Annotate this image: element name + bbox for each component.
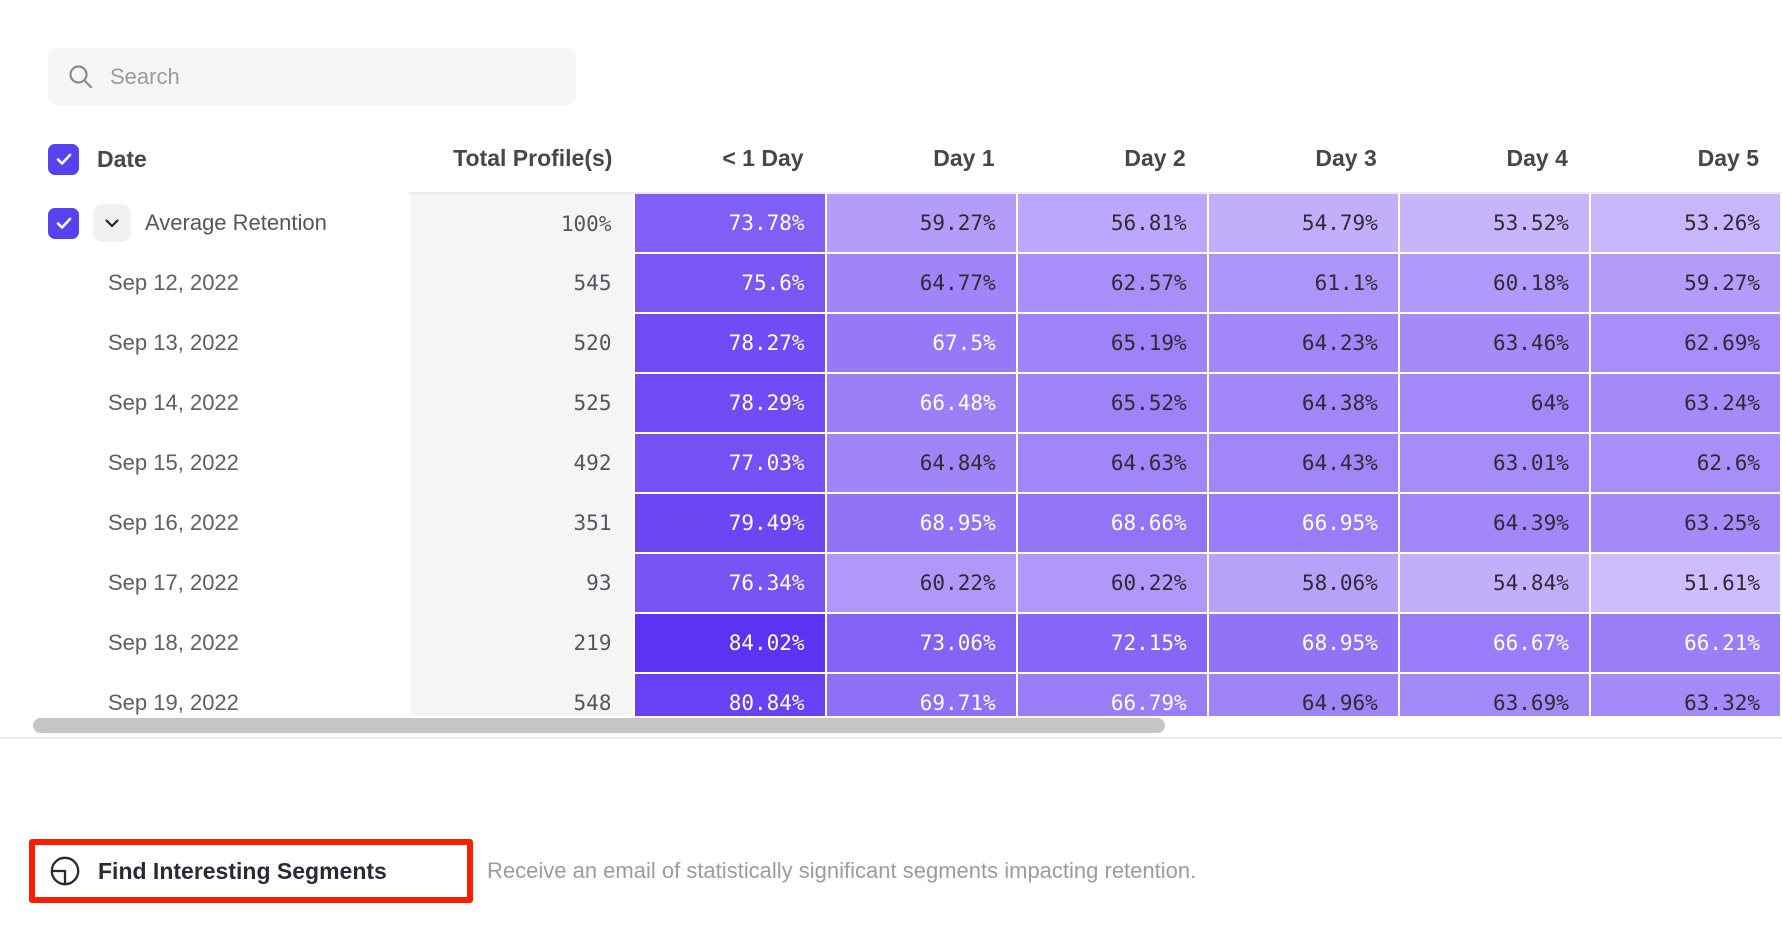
table-row[interactable]: Sep 14, 202252578.29%66.48%65.52%64.38%6… <box>0 373 1781 433</box>
find-interesting-segments-label: Find Interesting Segments <box>98 858 387 885</box>
row-7-cell-d5[interactable]: 63.32% <box>1590 673 1781 720</box>
row-0-cell-d0[interactable]: 75.6% <box>634 253 825 313</box>
row-4-cell-d2[interactable]: 68.66% <box>1017 493 1208 553</box>
row-1-cell-d3[interactable]: 64.23% <box>1208 313 1399 373</box>
row-0-cell-d2[interactable]: 62.57% <box>1017 253 1208 313</box>
row-2-cell-d3[interactable]: 64.38% <box>1208 373 1399 433</box>
footer-description: Receive an email of statistically signif… <box>487 858 1196 884</box>
row-total-profiles: 520 <box>410 313 635 373</box>
row-0-cell-d5[interactable]: 59.27% <box>1590 253 1781 313</box>
row-1-cell-d5[interactable]: 62.69% <box>1590 313 1781 373</box>
row-6-cell-d3[interactable]: 68.95% <box>1208 613 1399 673</box>
retention-table: Date Total Profile(s) < 1 Day Day 1 Day … <box>0 125 1782 720</box>
row-1-cell-d4[interactable]: 63.46% <box>1399 313 1590 373</box>
row-3-cell-d3[interactable]: 64.43% <box>1208 433 1399 493</box>
row-6-cell-d5[interactable]: 66.21% <box>1590 613 1781 673</box>
header-cell-d4[interactable]: Day 4 <box>1399 125 1590 193</box>
summary-row-label: Average Retention <box>145 210 327 236</box>
row-2-cell-d2[interactable]: 65.52% <box>1017 373 1208 433</box>
table-header: Date Total Profile(s) < 1 Day Day 1 Day … <box>0 125 1781 193</box>
row-date: Sep 18, 2022 <box>0 613 410 673</box>
search-input[interactable] <box>110 60 540 94</box>
row-7-cell-d0[interactable]: 80.84% <box>634 673 825 720</box>
table-row[interactable]: Sep 16, 202235179.49%68.95%68.66%66.95%6… <box>0 493 1781 553</box>
segment-circle-icon <box>48 854 82 888</box>
header-cell-d5[interactable]: Day 5 <box>1590 125 1781 193</box>
header-cell-d1[interactable]: Day 1 <box>826 125 1017 193</box>
row-0-cell-d3[interactable]: 61.1% <box>1208 253 1399 313</box>
row-4-cell-d1[interactable]: 68.95% <box>826 493 1017 553</box>
row-date: Sep 12, 2022 <box>0 253 410 313</box>
table-row[interactable]: Sep 12, 202254575.6%64.77%62.57%61.1%60.… <box>0 253 1781 313</box>
row-6-cell-d2[interactable]: 72.15% <box>1017 613 1208 673</box>
row-date: Sep 17, 2022 <box>0 553 410 613</box>
row-2-cell-d5[interactable]: 63.24% <box>1590 373 1781 433</box>
summary-row-cell-d5[interactable]: 53.26% <box>1590 193 1781 253</box>
row-6-cell-d4[interactable]: 66.67% <box>1399 613 1590 673</box>
row-date: Sep 16, 2022 <box>0 493 410 553</box>
row-5-cell-d3[interactable]: 58.06% <box>1208 553 1399 613</box>
footer-bar: Find Interesting Segments Receive an ema… <box>0 737 1782 930</box>
row-date: Sep 15, 2022 <box>0 433 410 493</box>
summary-row-cell-d2[interactable]: 56.81% <box>1017 193 1208 253</box>
row-4-cell-d4[interactable]: 64.39% <box>1399 493 1590 553</box>
chevron-down-icon[interactable] <box>93 204 131 242</box>
row-1-cell-d1[interactable]: 67.5% <box>826 313 1017 373</box>
table-row[interactable]: Sep 17, 20229376.34%60.22%60.22%58.06%54… <box>0 553 1781 613</box>
row-0-cell-d4[interactable]: 60.18% <box>1399 253 1590 313</box>
summary-row-cell-d3[interactable]: 54.79% <box>1208 193 1399 253</box>
summary-row-cell-d0[interactable]: 73.78% <box>634 193 825 253</box>
retention-table-scroll-area[interactable]: Date Total Profile(s) < 1 Day Day 1 Day … <box>0 125 1782 720</box>
row-6-cell-d0[interactable]: 84.02% <box>634 613 825 673</box>
row-date: Sep 13, 2022 <box>0 313 410 373</box>
row-2-cell-d1[interactable]: 66.48% <box>826 373 1017 433</box>
table-row[interactable]: Sep 19, 202254880.84%69.71%66.79%64.96%6… <box>0 673 1781 720</box>
row-total-profiles: 351 <box>410 493 635 553</box>
header-cell-date: Date <box>0 125 410 193</box>
row-5-cell-d5[interactable]: 51.61% <box>1590 553 1781 613</box>
row-total-profiles: 492 <box>410 433 635 493</box>
search-icon <box>66 62 96 92</box>
row-total-profiles: 93 <box>410 553 635 613</box>
row-7-cell-d2[interactable]: 66.79% <box>1017 673 1208 720</box>
row-5-cell-d4[interactable]: 54.84% <box>1399 553 1590 613</box>
row-1-cell-d0[interactable]: 78.27% <box>634 313 825 373</box>
summary-row-cell-d4[interactable]: 53.52% <box>1399 193 1590 253</box>
summary-row-label-cell: Average Retention <box>0 193 410 253</box>
row-total-profiles: 219 <box>410 613 635 673</box>
select-all-checkbox[interactable] <box>48 144 79 175</box>
row-3-cell-d0[interactable]: 77.03% <box>634 433 825 493</box>
row-0-cell-d1[interactable]: 64.77% <box>826 253 1017 313</box>
row-date: Sep 19, 2022 <box>0 673 410 720</box>
row-7-cell-d3[interactable]: 64.96% <box>1208 673 1399 720</box>
table-row[interactable]: Sep 15, 202249277.03%64.84%64.63%64.43%6… <box>0 433 1781 493</box>
row-4-cell-d3[interactable]: 66.95% <box>1208 493 1399 553</box>
row-3-cell-d4[interactable]: 63.01% <box>1399 433 1590 493</box>
header-cell-total[interactable]: Total Profile(s) <box>410 125 635 193</box>
row-3-cell-d1[interactable]: 64.84% <box>826 433 1017 493</box>
row-total-profiles: 545 <box>410 253 635 313</box>
summary-row-checkbox[interactable] <box>48 208 79 239</box>
summary-row: Average Retention100%73.78%59.27%56.81%5… <box>0 193 1781 253</box>
row-3-cell-d5[interactable]: 62.6% <box>1590 433 1781 493</box>
row-date: Sep 14, 2022 <box>0 373 410 433</box>
horizontal-scrollbar-thumb[interactable] <box>33 718 1165 733</box>
row-2-cell-d0[interactable]: 78.29% <box>634 373 825 433</box>
row-7-cell-d1[interactable]: 69.71% <box>826 673 1017 720</box>
header-label-date: Date <box>97 146 147 173</box>
header-cell-d3[interactable]: Day 3 <box>1208 125 1399 193</box>
row-3-cell-d2[interactable]: 64.63% <box>1017 433 1208 493</box>
row-1-cell-d2[interactable]: 65.19% <box>1017 313 1208 373</box>
row-4-cell-d0[interactable]: 79.49% <box>634 493 825 553</box>
header-row: Date Total Profile(s) < 1 Day Day 1 Day … <box>0 125 1781 193</box>
summary-row-cell-d1[interactable]: 59.27% <box>826 193 1017 253</box>
table-body: Average Retention100%73.78%59.27%56.81%5… <box>0 193 1781 720</box>
row-total-profiles: 525 <box>410 373 635 433</box>
header-cell-d2[interactable]: Day 2 <box>1017 125 1208 193</box>
row-7-cell-d4[interactable]: 63.69% <box>1399 673 1590 720</box>
row-5-cell-d0[interactable]: 76.34% <box>634 553 825 613</box>
table-row[interactable]: Sep 18, 202221984.02%73.06%72.15%68.95%6… <box>0 613 1781 673</box>
row-5-cell-d1[interactable]: 60.22% <box>826 553 1017 613</box>
row-5-cell-d2[interactable]: 60.22% <box>1017 553 1208 613</box>
summary-row-total: 100% <box>410 193 635 253</box>
header-cell-d0[interactable]: < 1 Day <box>634 125 825 193</box>
search-box[interactable] <box>48 48 576 105</box>
find-interesting-segments-button[interactable]: Find Interesting Segments <box>48 849 387 893</box>
row-2-cell-d4[interactable]: 64% <box>1399 373 1590 433</box>
row-total-profiles: 548 <box>410 673 635 720</box>
retention-table-screen: Date Total Profile(s) < 1 Day Day 1 Day … <box>0 0 1782 930</box>
row-6-cell-d1[interactable]: 73.06% <box>826 613 1017 673</box>
row-4-cell-d5[interactable]: 63.25% <box>1590 493 1781 553</box>
table-row[interactable]: Sep 13, 202252078.27%67.5%65.19%64.23%63… <box>0 313 1781 373</box>
